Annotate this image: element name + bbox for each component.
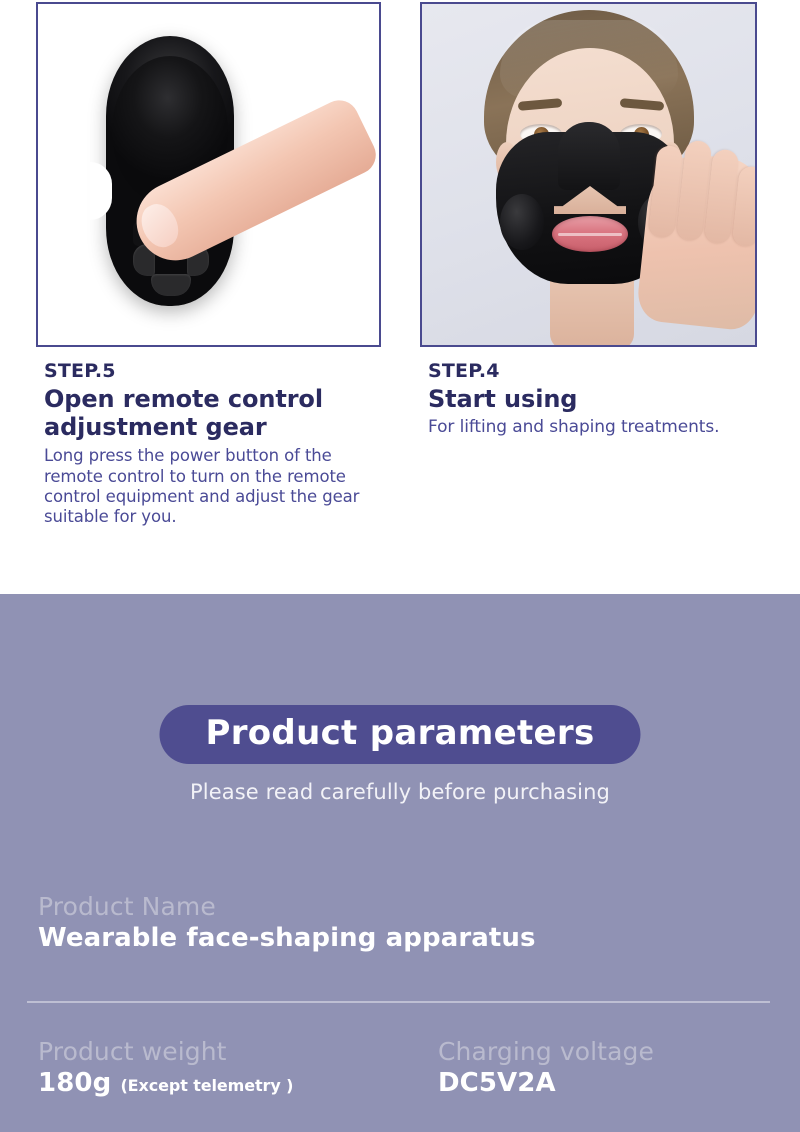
mask-mouth-cutout bbox=[552, 216, 628, 252]
model-wearing-mask-photo bbox=[422, 4, 755, 345]
step4-description: For lifting and shaping treatments. bbox=[428, 417, 773, 438]
step4-text-block: STEP.4 Start using For lifting and shapi… bbox=[428, 360, 773, 437]
mask-nose-bridge bbox=[558, 122, 620, 190]
parameter-value: DC5V2A bbox=[438, 1068, 654, 1100]
step4-label: STEP.4 bbox=[428, 360, 773, 384]
parameter-cell-product-weight: Product weight 180g (Except telemetry ) bbox=[38, 1037, 293, 1100]
parameters-divider bbox=[27, 1001, 770, 1003]
product-parameters-badge: Product parameters bbox=[159, 705, 640, 764]
parameter-value: Wearable face-shaping apparatus bbox=[38, 923, 738, 955]
parameters-subtitle: Please read carefully before purchasing bbox=[0, 780, 800, 804]
remote-waist-left bbox=[90, 162, 112, 220]
remote-control-photo bbox=[38, 4, 379, 345]
parameter-cell-charging-voltage: Charging voltage DC5V2A bbox=[438, 1037, 654, 1100]
parameter-label: Product weight bbox=[38, 1037, 293, 1067]
parameter-row-product-name: Product Name Wearable face-shaping appar… bbox=[38, 892, 738, 955]
step5-title: Open remote control adjustment gear bbox=[44, 386, 394, 442]
step4-photo-frame bbox=[420, 2, 757, 347]
mask-nose-cutout bbox=[554, 186, 626, 214]
step5-label: STEP.5 bbox=[44, 360, 394, 384]
step5-text-block: STEP.5 Open remote control adjustment ge… bbox=[44, 360, 394, 527]
mask-module-left bbox=[500, 194, 544, 250]
parameter-label: Charging voltage bbox=[438, 1037, 654, 1067]
product-parameters-section: Product parameters Please read carefully… bbox=[0, 594, 800, 1132]
steps-section: STEP.5 Open remote control adjustment ge… bbox=[0, 0, 800, 594]
step5-description: Long press the power button of the remot… bbox=[44, 446, 394, 527]
step4-title: Start using bbox=[428, 386, 773, 414]
parameter-value-wrap: 180g (Except telemetry ) bbox=[38, 1068, 293, 1100]
parameter-value: 180g bbox=[38, 1068, 111, 1098]
model-hand bbox=[635, 150, 757, 332]
parameter-label: Product Name bbox=[38, 892, 738, 922]
step5-photo-frame bbox=[36, 2, 381, 347]
parameter-note: (Except telemetry ) bbox=[120, 1076, 293, 1095]
